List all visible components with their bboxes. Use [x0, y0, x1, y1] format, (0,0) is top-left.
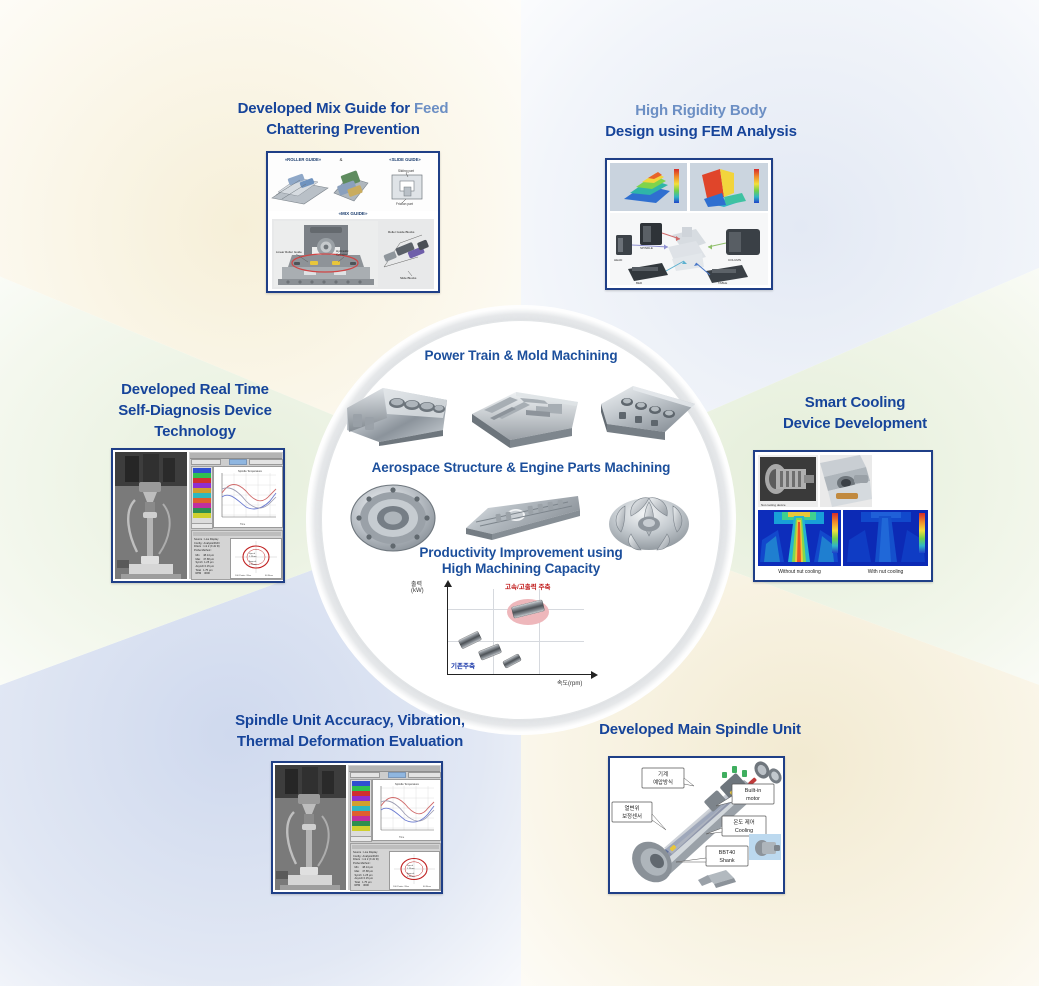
caption-mix-guide: «MIX GUIDE» — [268, 211, 438, 216]
svg-text:Time: Time — [399, 836, 405, 839]
svg-text:Synch: Synch — [249, 553, 256, 555]
label-mix-guide-l1: Developed Mix Guide for Feed — [193, 98, 493, 119]
center-circle: Power Train & Mold Machining — [321, 320, 721, 720]
label-smart-cooling-l1: Smart Cooling — [752, 392, 958, 413]
center-title-productivity: Productivity Improvement using High Mach… — [321, 545, 721, 577]
label-self-diagnosis: Developed Real Time Self-Diagnosis Devic… — [95, 379, 295, 442]
svg-text:60 Revs: 60 Revs — [265, 575, 274, 577]
center-parts-row-powertrain — [335, 368, 707, 454]
svg-text:Spindle Temperature: Spindle Temperature — [395, 782, 419, 786]
label-mix-guide: Developed Mix Guide for Feed Chattering … — [193, 98, 493, 140]
svg-text:Roller Guide Blocks: Roller Guide Blocks — [388, 230, 415, 234]
callout-bbt40-shank: BBT40 Shank — [708, 849, 746, 865]
svg-text:Friction part: Friction part — [396, 202, 413, 206]
callout-mechanical-preload: 기계 예압방식 — [644, 771, 682, 787]
label-fem-body: High Rigidity Body Design using FEM Anal… — [578, 100, 824, 142]
panel-self-diagnosis: Spindle Temperature Time Source : Live D… — [111, 448, 285, 583]
label-self-diagnosis-l1: Developed Real Time — [95, 379, 295, 400]
label-smart-cooling-l2: Device Development — [752, 413, 958, 434]
chart-gridline-v1 — [493, 589, 494, 674]
chart-xlabel: 속도(rpm) — [557, 678, 582, 687]
chart-x-axis — [447, 674, 593, 675]
center-title-aerospace: Aerospace Structure & Engine Parts Machi… — [321, 460, 721, 476]
chart-point-conventional-2 — [478, 643, 502, 661]
svg-text:Spindle Temperature: Spindle Temperature — [238, 469, 262, 473]
mold-die-image — [466, 374, 584, 448]
svg-text:100 Points / Rev: 100 Points / Rev — [235, 574, 252, 577]
engine-block-image — [339, 374, 457, 448]
label-spindle-evaluation-l2: Thermal Deformation Evaluation — [190, 731, 510, 752]
svg-text:Synch: Synch — [407, 865, 414, 867]
caption-without-nut-cooling: Without nut cooling — [758, 567, 841, 578]
label-mix-guide-l2: Chattering Prevention — [193, 119, 493, 140]
svg-text:Asynch: Asynch — [249, 560, 257, 563]
svg-text:TABLE: TABLE — [718, 281, 727, 285]
svg-text:100 Points / Rev: 100 Points / Rev — [393, 885, 410, 888]
label-spindle-evaluation-l1: Spindle Unit Accuracy, Vibration, — [190, 710, 510, 731]
center-title-power-train: Power Train & Mold Machining — [321, 348, 721, 364]
infographic-canvas: Power Train & Mold Machining — [0, 0, 1039, 986]
panel-smart-cooling: Nut cooling device — [753, 450, 933, 582]
machining-capacity-chart: 출력 (kW) 고속/고출력 주축 — [411, 575, 641, 693]
panel-main-spindle-unit: 기계 예압방식 열변위 보정센서 Built-in motor 온도 제어 Co… — [608, 756, 785, 894]
svg-text:Linear Roller Guide: Linear Roller Guide — [276, 250, 302, 254]
label-smart-cooling: Smart Cooling Device Development — [752, 392, 958, 434]
svg-text:HEAD: HEAD — [614, 258, 623, 262]
svg-text:BED: BED — [636, 281, 643, 285]
label-self-diagnosis-l3: Technology — [95, 421, 295, 442]
svg-text:COLUMN: COLUMN — [728, 258, 741, 262]
caption-ampersand: & — [336, 157, 346, 162]
svg-text:Time: Time — [240, 523, 246, 526]
label-self-diagnosis-l2: Self-Diagnosis Device — [95, 400, 295, 421]
cylinder-head-image — [593, 374, 703, 448]
callout-thermal-displacement-sensor: 열변위 보정센서 — [614, 805, 650, 821]
chart-ylabel-line2: (kW) — [411, 588, 424, 594]
svg-text:Asynch: Asynch — [407, 872, 415, 875]
svg-text:Nut cooling device: Nut cooling device — [761, 503, 786, 507]
callout-built-in-motor: Built-in motor — [734, 787, 772, 803]
chart-ylabel-line1: 출력 — [411, 579, 422, 588]
chart-y-axis-arrow — [444, 580, 452, 587]
caption-with-nut-cooling: With nut cooling — [843, 567, 928, 578]
label-main-spindle-l1: Developed Main Spindle Unit — [560, 719, 840, 740]
label-main-spindle: Developed Main Spindle Unit — [560, 719, 840, 740]
chart-x-axis-arrow — [591, 671, 598, 679]
label-fem-body-l1: High Rigidity Body — [578, 100, 824, 121]
label-spindle-evaluation: Spindle Unit Accuracy, Vibration, Therma… — [190, 710, 510, 752]
caption-slide-guide: «SLIDE GUIDE» — [376, 157, 434, 162]
svg-text:1.25um: 1.25um — [249, 556, 256, 558]
chart-annotation-high-power: 고속/고출력 주축 — [505, 581, 550, 591]
svg-text:1.25um: 1.25um — [407, 868, 414, 870]
panel-spindle-evaluation: Spindle Temperature Time Source : Live D… — [271, 761, 443, 894]
center-title-productivity-l1: Productivity Improvement using — [321, 545, 721, 561]
svg-text:0.15um: 0.15um — [407, 876, 414, 878]
svg-text:Sliding part: Sliding part — [398, 169, 414, 173]
panel-mix-guide-diagram: «ROLLER GUIDE» & «SLIDE GUIDE» — [266, 151, 440, 293]
svg-text:0.15um: 0.15um — [249, 564, 256, 566]
panel-fem-analysis: HEAD SPINDLE COLUMN BED TABLE — [605, 158, 773, 290]
chart-annotation-conventional: 기존주축 — [451, 660, 475, 670]
caption-roller-guide: «ROLLER GUIDE» — [274, 157, 332, 162]
chart-point-conventional-3 — [502, 653, 522, 669]
svg-text:SPINDLE: SPINDLE — [640, 246, 653, 250]
callout-temperature-cooling: 온도 제어 Cooling — [724, 819, 764, 835]
svg-text:Slide Blocks: Slide Blocks — [400, 276, 417, 280]
chart-point-conventional-1 — [458, 631, 482, 650]
label-fem-body-l2: Design using FEM Analysis — [578, 121, 824, 142]
chart-y-axis — [447, 587, 448, 675]
svg-text:60 Revs: 60 Revs — [423, 886, 432, 888]
aircraft-structural-rib-image — [462, 488, 584, 548]
svg-text:Cylinder: Cylinder — [336, 253, 347, 257]
